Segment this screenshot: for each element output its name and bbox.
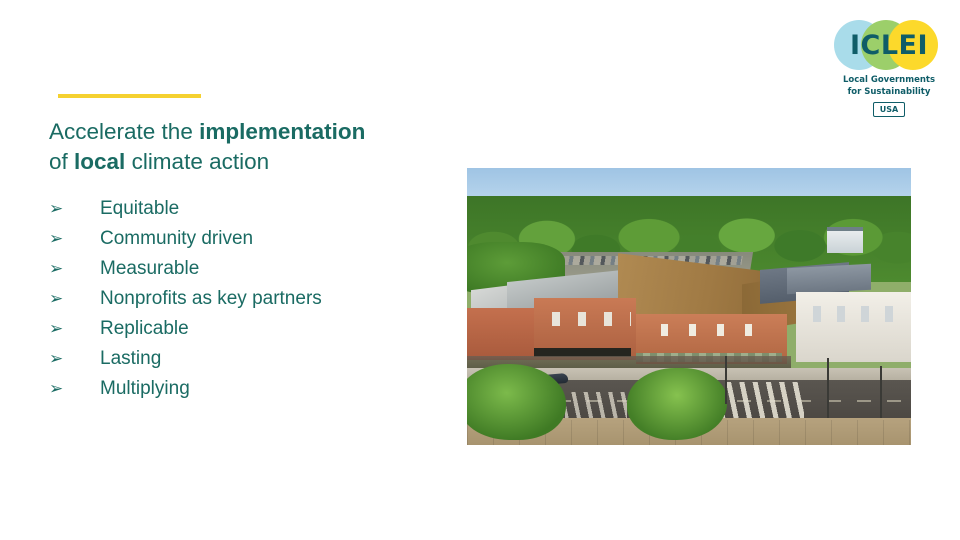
list-item-label: Multiplying xyxy=(100,374,190,404)
title-line1-prefix: Accelerate the xyxy=(49,119,199,144)
list-item: ➢ Lasting xyxy=(49,344,449,374)
main-street-aerial-photo xyxy=(467,168,911,445)
arrow-bullet-icon: ➢ xyxy=(49,254,100,284)
iclei-logo: ICLEI Local Governments for Sustainabili… xyxy=(830,20,948,124)
photo-light-pole-2 xyxy=(827,358,829,418)
list-item: ➢ Measurable xyxy=(49,254,449,284)
logo-circles: ICLEI xyxy=(834,20,944,70)
photo-window-row-b xyxy=(649,324,773,336)
list-item-label: Nonprofits as key partners xyxy=(100,284,322,314)
photo-light-pole-3 xyxy=(880,366,882,418)
photo-crosswalk-2 xyxy=(565,392,627,420)
list-item-label: Measurable xyxy=(100,254,199,284)
list-item: ➢ Community driven xyxy=(49,224,449,254)
logo-wordmark: ICLEI xyxy=(834,20,944,70)
list-item-label: Lasting xyxy=(100,344,161,374)
arrow-bullet-icon: ➢ xyxy=(49,224,100,254)
arrow-bullet-icon: ➢ xyxy=(49,194,100,224)
title-line2-prefix: of xyxy=(49,149,74,174)
list-item-label: Equitable xyxy=(100,194,179,224)
page-title: Accelerate the implementation of local c… xyxy=(49,117,449,177)
photo-slate-roof xyxy=(787,264,871,294)
bullet-list: ➢ Equitable ➢ Community driven ➢ Measura… xyxy=(49,194,449,404)
logo-tagline-line2: for Sustainability xyxy=(830,87,948,99)
arrow-bullet-icon: ➢ xyxy=(49,284,100,314)
arrow-bullet-icon: ➢ xyxy=(49,314,100,344)
list-item-label: Replicable xyxy=(100,314,189,344)
list-item: ➢ Equitable xyxy=(49,194,449,224)
photo-distant-house xyxy=(827,227,863,253)
photo-window-row-c xyxy=(804,306,902,322)
photo-foreground-tree-2 xyxy=(627,368,727,440)
arrow-bullet-icon: ➢ xyxy=(49,344,100,374)
slide: ICLEI Local Governments for Sustainabili… xyxy=(0,0,960,540)
title-line2-suffix: climate action xyxy=(125,149,269,174)
logo-region-badge: USA xyxy=(873,102,905,117)
title-line2-bold: local xyxy=(74,149,125,174)
photo-light-pole-1 xyxy=(725,356,727,404)
list-item: ➢ Replicable xyxy=(49,314,449,344)
list-item: ➢ Nonprofits as key partners xyxy=(49,284,449,314)
logo-tagline: Local Governments for Sustainability xyxy=(830,75,948,98)
title-line1-bold: implementation xyxy=(199,119,365,144)
list-item: ➢ Multiplying xyxy=(49,374,449,404)
arrow-bullet-icon: ➢ xyxy=(49,374,100,404)
photo-window-row-a xyxy=(542,312,631,326)
photo-white-building-right xyxy=(796,292,911,362)
list-item-label: Community driven xyxy=(100,224,253,254)
logo-tagline-line1: Local Governments xyxy=(830,75,948,87)
accent-bar xyxy=(58,94,201,98)
